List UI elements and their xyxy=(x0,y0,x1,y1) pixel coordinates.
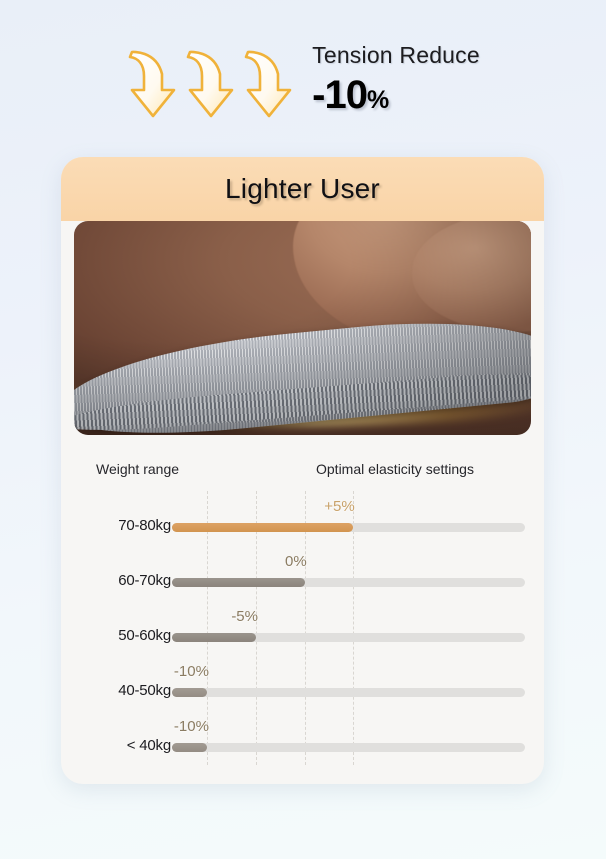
row-label-40-50kg: 40-50kg xyxy=(61,682,171,699)
row-label-70-80kg: 70-80kg xyxy=(61,517,171,534)
card-header: Lighter User xyxy=(61,157,544,221)
chart-row: 60-70kg0% xyxy=(61,546,544,601)
chart-row: 50-60kg-5% xyxy=(61,601,544,656)
row-label--40kg: < 40kg xyxy=(61,737,171,754)
hero-illustration xyxy=(74,221,531,435)
tension-unit: % xyxy=(367,86,389,114)
bar-fill xyxy=(172,743,207,752)
curved-down-arrow-icon xyxy=(126,44,178,122)
bar-value-label: +5% xyxy=(324,498,354,515)
row-label-60-70kg: 60-70kg xyxy=(61,572,171,589)
chart-row: < 40kg-10% xyxy=(61,711,544,766)
bar-value-label: 0% xyxy=(285,553,307,570)
tension-banner: Tension Reduce -10% xyxy=(0,28,606,133)
bar-fill xyxy=(172,578,305,587)
card-title: Lighter User xyxy=(225,173,380,205)
elasticity-chart: Weight range Optimal elasticity settings… xyxy=(61,435,544,779)
chart-row: 70-80kg+5% xyxy=(61,491,544,546)
weight-range-header: Weight range xyxy=(96,461,179,477)
tension-label: Tension Reduce xyxy=(312,43,480,68)
bar-track xyxy=(172,633,525,642)
chart-row: 40-50kg-10% xyxy=(61,656,544,711)
row-label-50-60kg: 50-60kg xyxy=(61,627,171,644)
bar-fill xyxy=(172,523,353,532)
curved-down-arrow-icon xyxy=(184,44,236,122)
curved-down-arrow-icon xyxy=(242,44,294,122)
elasticity-settings-header: Optimal elasticity settings xyxy=(316,461,474,477)
chart-rows: 70-80kg+5%60-70kg0%50-60kg-5%40-50kg-10%… xyxy=(61,491,544,766)
tension-value: -10% xyxy=(312,72,389,118)
bar-track xyxy=(172,743,525,752)
tension-number: -10 xyxy=(312,73,367,117)
banner-text: Tension Reduce -10% xyxy=(312,43,480,118)
lighter-user-card: Lighter User Weight range Optimal elasti… xyxy=(61,157,544,784)
bar-track xyxy=(172,688,525,697)
chart-plot-area: 70-80kg+5%60-70kg0%50-60kg-5%40-50kg-10%… xyxy=(61,491,544,779)
bar-value-label: -10% xyxy=(174,718,209,735)
bar-fill xyxy=(172,688,207,697)
bar-track xyxy=(172,523,525,532)
arrow-group xyxy=(126,44,294,122)
bar-fill xyxy=(172,633,256,642)
vignette xyxy=(74,221,531,435)
bar-track xyxy=(172,578,525,587)
bar-value-label: -5% xyxy=(231,608,258,625)
bar-value-label: -10% xyxy=(174,663,209,680)
chart-header-row: Weight range Optimal elasticity settings xyxy=(96,461,510,487)
